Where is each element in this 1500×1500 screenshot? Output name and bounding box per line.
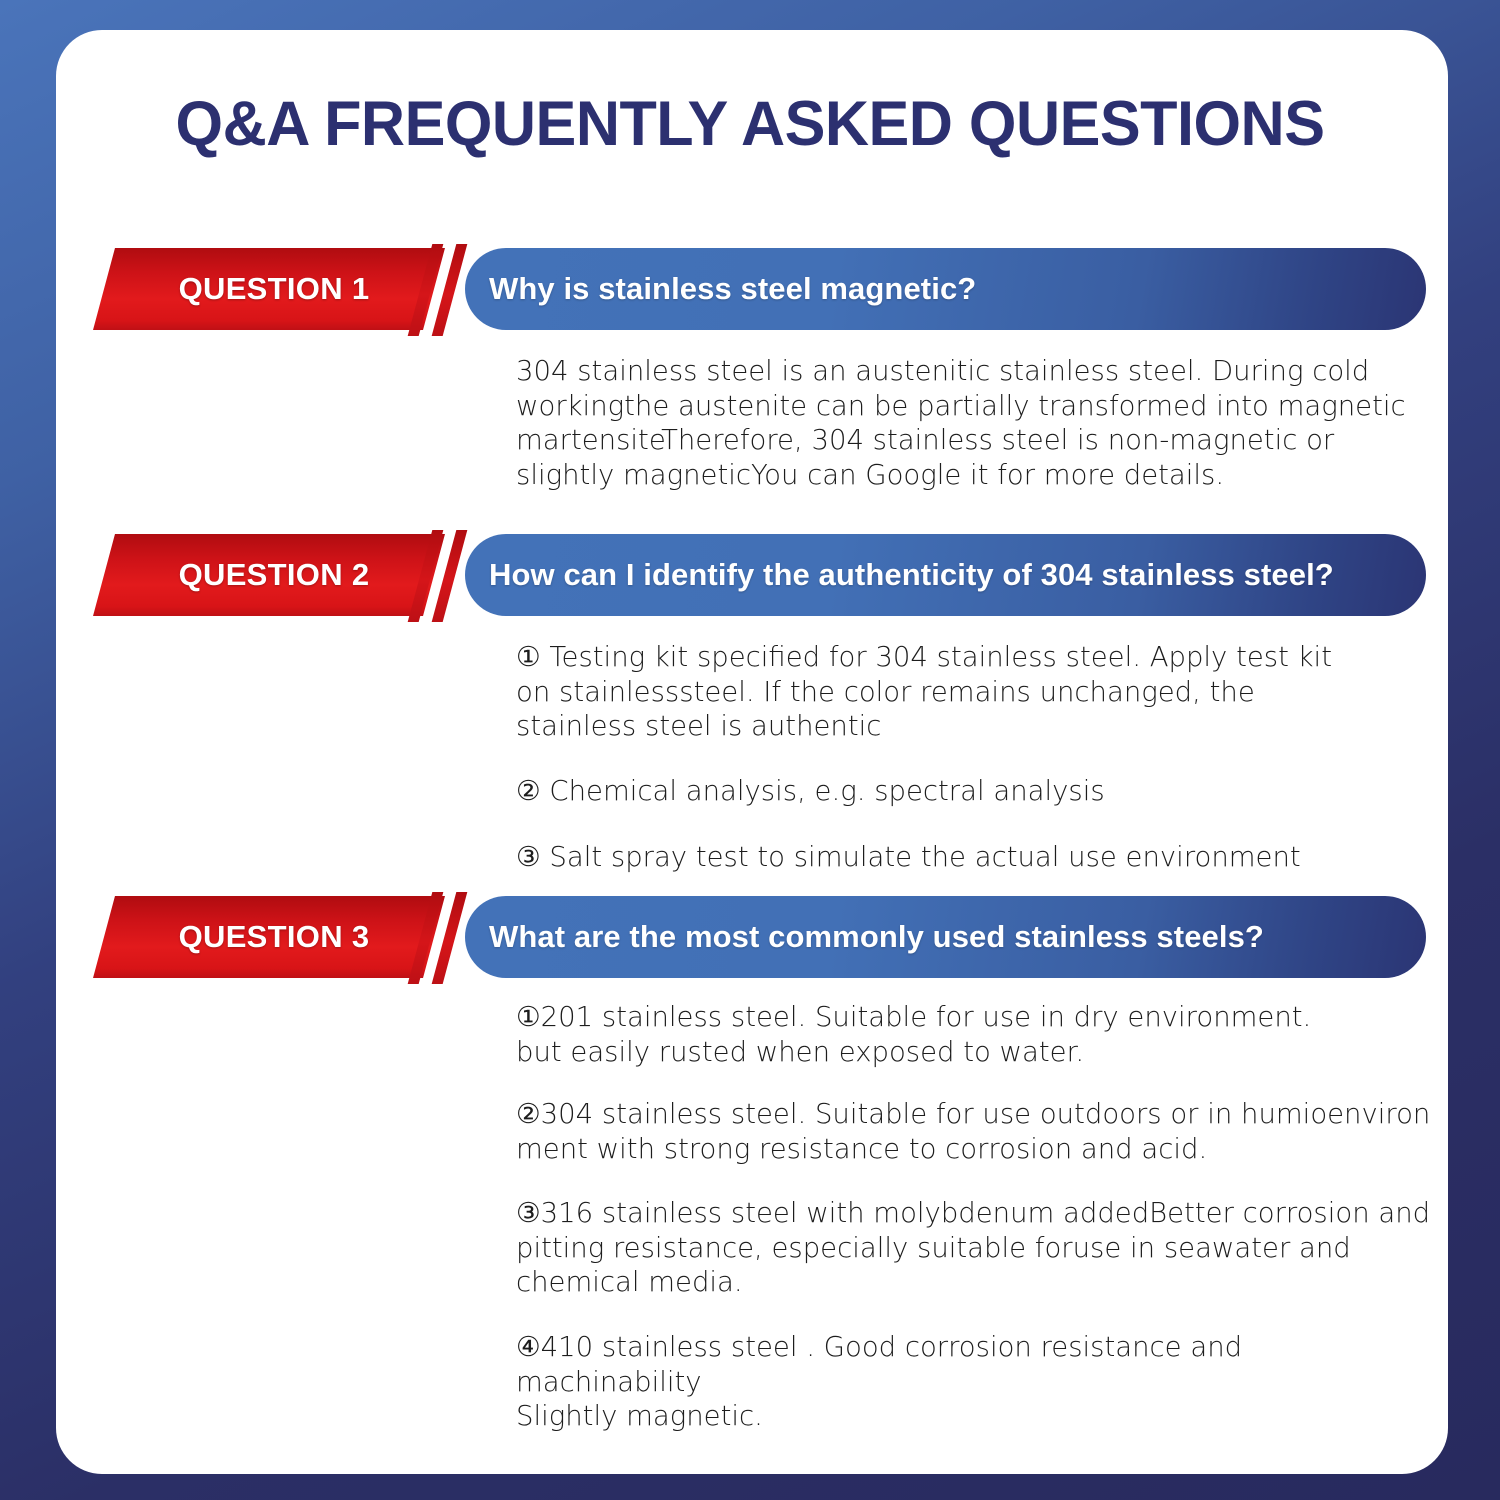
question-row-3: QUESTION 3 What are the most commonly us… <box>0 896 1500 978</box>
question-text-3: What are the most commonly used stainles… <box>465 919 1284 955</box>
answer-2-1: ① Testing kit specified for 304 stainles… <box>516 640 1346 744</box>
answer-1-1: 304 stainless steel is an austenitic sta… <box>516 354 1406 492</box>
answer-3-3: ③316 stainless steel with molybdenum add… <box>516 1196 1431 1300</box>
answer-3-2: ②304 stainless steel. Suitable for use o… <box>516 1097 1431 1166</box>
question-tag-label-2: QUESTION 2 <box>104 534 434 616</box>
question-banner-1: Why is stainless steel magnetic? <box>465 248 1426 330</box>
question-text-2: How can I identify the authenticity of 3… <box>465 557 1354 593</box>
answer-2-2: ② Chemical analysis, e.g. spectral analy… <box>516 774 1346 809</box>
question-tag-3: QUESTION 3 <box>104 896 434 978</box>
answer-3-4: ④410 stainless steel . Good corrosion re… <box>516 1330 1431 1434</box>
question-text-1: Why is stainless steel magnetic? <box>465 271 996 307</box>
question-tag-label-1: QUESTION 1 <box>104 248 434 330</box>
faq-page: Q&A FREQUENTLY ASKED QUESTIONS QUESTION … <box>0 0 1500 1500</box>
answer-3-1: ①201 stainless steel. Suitable for use i… <box>516 1000 1431 1069</box>
question-tag-2: QUESTION 2 <box>104 534 434 616</box>
answer-2-3: ③ Salt spray test to simulate the actual… <box>516 840 1346 875</box>
question-banner-2: How can I identify the authenticity of 3… <box>465 534 1426 616</box>
question-banner-3: What are the most commonly used stainles… <box>465 896 1426 978</box>
page-title: Q&A FREQUENTLY ASKED QUESTIONS <box>23 88 1478 160</box>
question-tag-label-3: QUESTION 3 <box>104 896 434 978</box>
question-tag-1: QUESTION 1 <box>104 248 434 330</box>
question-row-1: QUESTION 1 Why is stainless steel magnet… <box>0 248 1500 330</box>
question-row-2: QUESTION 2 How can I identify the authen… <box>0 534 1500 616</box>
